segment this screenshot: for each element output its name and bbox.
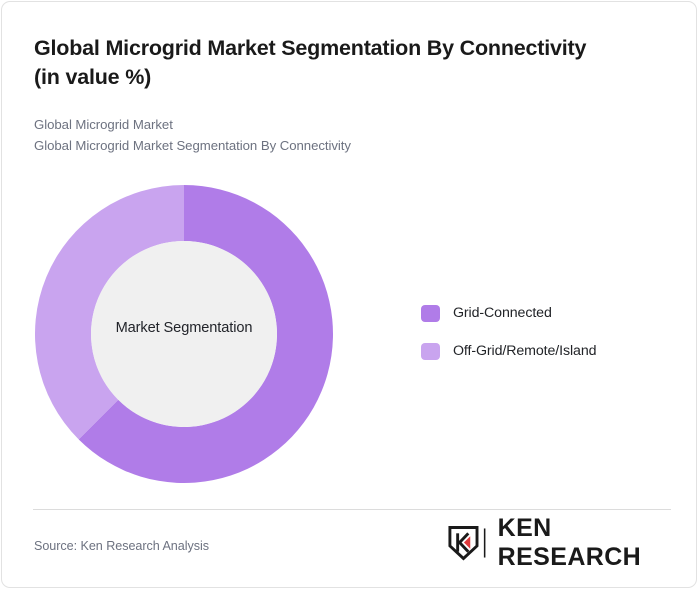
- ken-research-shield-icon: [447, 525, 480, 561]
- chart-card: Global Microgrid Market Segmentation By …: [1, 1, 697, 588]
- legend-item-grid-connected[interactable]: Grid-Connected: [421, 302, 596, 324]
- chart-legend: Grid-Connected Off-Grid/Remote/Island: [421, 302, 596, 378]
- legend-swatch-icon: [421, 305, 440, 322]
- subtitle-line-2: Global Microgrid Market Segmentation By …: [34, 135, 634, 156]
- donut-center-label: Market Segmentation: [91, 320, 277, 336]
- logo-separator-icon: [480, 528, 489, 558]
- logo-text: KEN RESEARCH: [498, 514, 696, 572]
- subtitle-line-1: Global Microgrid Market: [34, 114, 634, 135]
- legend-item-off-grid[interactable]: Off-Grid/Remote/Island: [421, 340, 596, 362]
- footer-divider: [33, 509, 671, 510]
- legend-swatch-icon: [421, 343, 440, 360]
- legend-label: Off-Grid/Remote/Island: [453, 343, 596, 359]
- page-title: Global Microgrid Market Segmentation By …: [34, 34, 604, 91]
- ken-research-logo: KEN RESEARCH: [447, 525, 696, 561]
- subtitle-block: Global Microgrid Market Global Microgrid…: [34, 114, 634, 157]
- source-text: Source: Ken Research Analysis: [34, 539, 209, 553]
- legend-label: Grid-Connected: [453, 305, 552, 321]
